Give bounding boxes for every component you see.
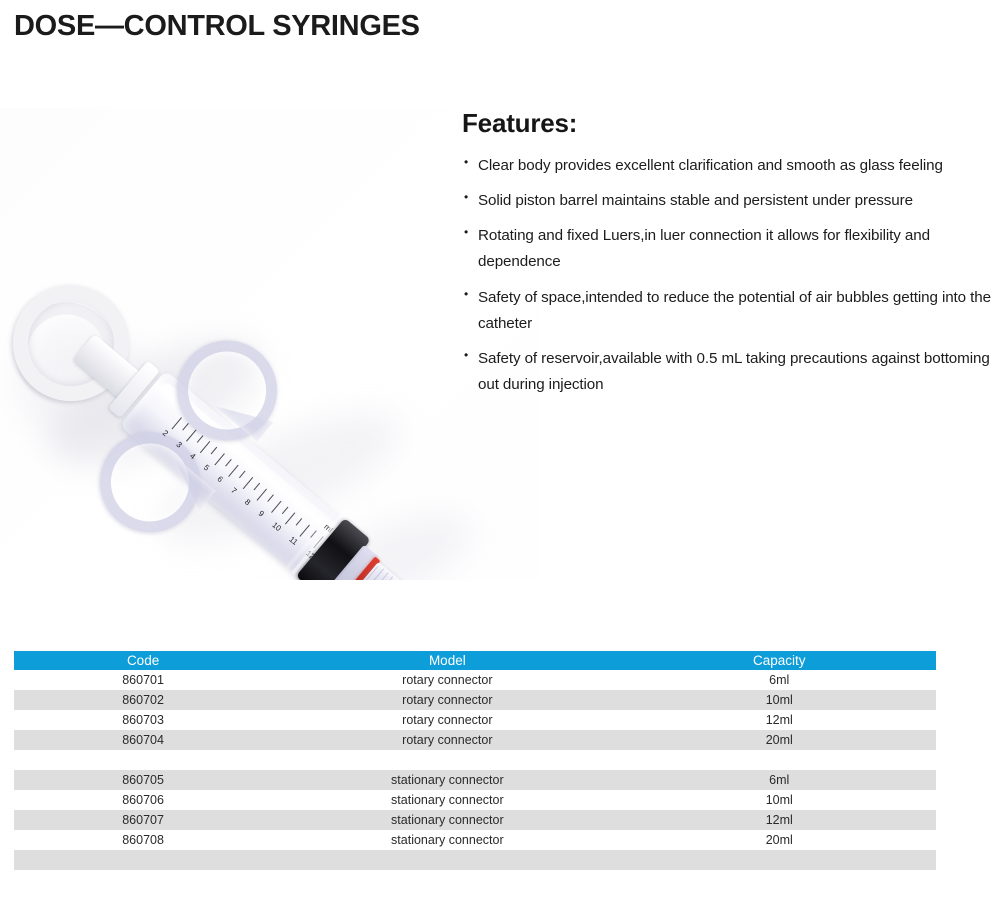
cell-model: stationary connector — [272, 770, 622, 790]
cell-capacity: 12ml — [623, 810, 936, 830]
features-list: Clear body provides excellent clarificat… — [462, 153, 992, 398]
cell-code: 860706 — [14, 790, 272, 810]
cell-model: stationary connector — [272, 830, 622, 850]
graduation-number: 9 — [257, 509, 266, 519]
table-header-row: Code Model Capacity — [14, 651, 936, 670]
table-row: 860702 rotary connector 10ml — [14, 690, 936, 710]
feature-item: Safety of space,intended to reduce the p… — [462, 285, 992, 337]
graduation-number: 8 — [243, 497, 252, 507]
features-heading: Features: — [462, 108, 992, 139]
column-header-capacity: Capacity — [623, 651, 936, 670]
cell-code: 860704 — [14, 730, 272, 750]
feature-item: Clear body provides excellent clarificat… — [462, 153, 992, 179]
feature-item: Solid piston barrel maintains stable and… — [462, 188, 992, 214]
table-row: 860701 rotary connector 6ml — [14, 670, 936, 690]
cell-code: 860707 — [14, 810, 272, 830]
column-header-code: Code — [14, 651, 272, 670]
table-row: 860705 stationary connector 6ml — [14, 770, 936, 790]
table-row: 860707 stationary connector 12ml — [14, 810, 936, 830]
feature-item: Safety of reservoir,available with 0.5 m… — [462, 346, 992, 398]
cell-model: stationary connector — [272, 790, 622, 810]
cell-model: rotary connector — [272, 730, 622, 750]
table-row: 860703 rotary connector 12ml — [14, 710, 936, 730]
product-photo-stage: 2 3 4 5 6 7 8 9 10 11 12 ml — [0, 108, 540, 580]
cell-code: 860705 — [14, 770, 272, 790]
cell-capacity: 6ml — [623, 770, 936, 790]
table-spacer-row — [14, 750, 936, 770]
product-image: 2 3 4 5 6 7 8 9 10 11 12 ml — [0, 108, 540, 580]
cell-code: 860708 — [14, 830, 272, 850]
cell-capacity: 6ml — [623, 670, 936, 690]
cell-model: stationary connector — [272, 810, 622, 830]
table-row: 860704 rotary connector 20ml — [14, 730, 936, 750]
graduation-number: 5 — [202, 463, 211, 473]
graduation-number: 4 — [188, 451, 197, 461]
cell-capacity: 20ml — [623, 730, 936, 750]
cell-capacity: 10ml — [623, 790, 936, 810]
cell-model: rotary connector — [272, 690, 622, 710]
cell-code: 860703 — [14, 710, 272, 730]
cell-capacity: 20ml — [623, 830, 936, 850]
syringe-illustration: 2 3 4 5 6 7 8 9 10 11 12 ml — [0, 240, 452, 580]
spec-table: Code Model Capacity 860701 rotary connec… — [14, 651, 936, 870]
page-title: DOSE—CONTROL SYRINGES — [14, 10, 420, 43]
feature-item: Rotating and fixed Luers,in luer connect… — [462, 223, 992, 275]
table-row: 860708 stationary connector 20ml — [14, 830, 936, 850]
features-section: Features: Clear body provides excellent … — [462, 108, 992, 407]
cell-model: rotary connector — [272, 710, 622, 730]
graduation-number: 6 — [216, 474, 225, 484]
cell-model: rotary connector — [272, 670, 622, 690]
cell-capacity: 10ml — [623, 690, 936, 710]
graduation-number: 7 — [229, 486, 238, 496]
cell-capacity: 12ml — [623, 710, 936, 730]
column-header-model: Model — [272, 651, 622, 670]
table-tail-row — [14, 850, 936, 870]
cell-code: 860702 — [14, 690, 272, 710]
cell-code: 860701 — [14, 670, 272, 690]
graduation-number: 3 — [174, 440, 183, 450]
table-row: 860706 stationary connector 10ml — [14, 790, 936, 810]
